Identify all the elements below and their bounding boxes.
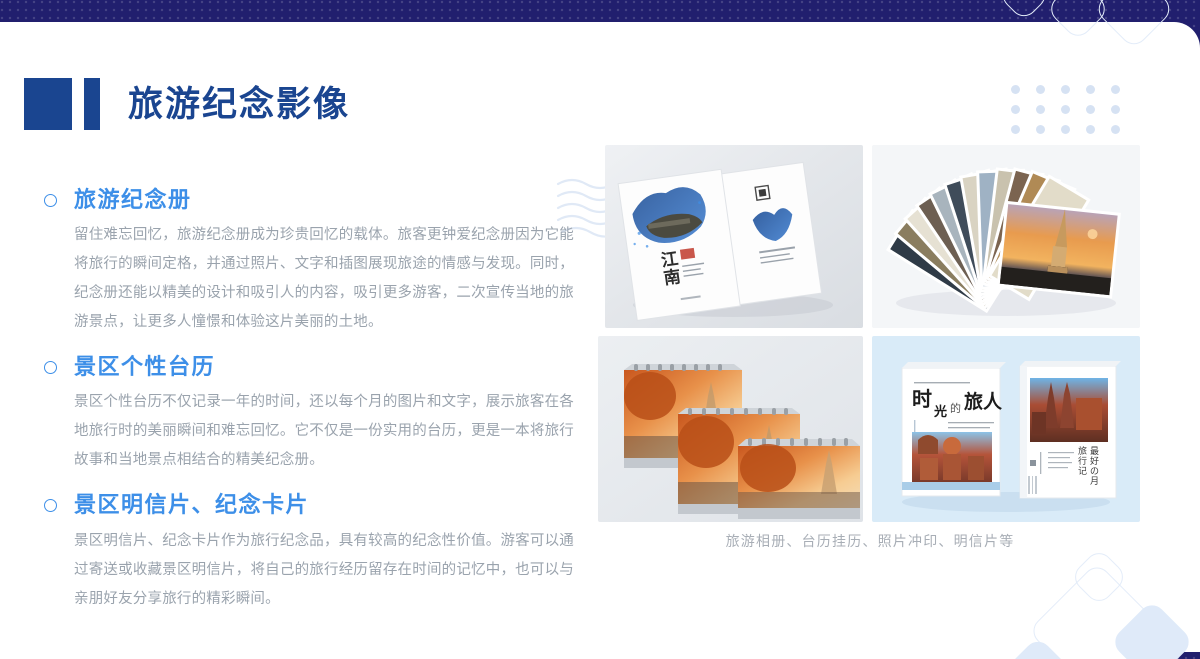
svg-text:の: の [1090, 467, 1099, 477]
section-postcards: 景区明信片、纪念卡片 景区明信片、纪念卡片作为旅行纪念品，具有较高的纪念性价值。… [44, 493, 584, 613]
dot [1011, 105, 1020, 114]
svg-text:好: 好 [1090, 455, 1099, 467]
svg-text:时: 时 [912, 387, 932, 411]
svg-text:光: 光 [933, 404, 947, 420]
dot [1111, 105, 1120, 114]
section-heading-row: 旅游纪念册 [44, 188, 584, 212]
page-title-row: 旅游纪念影像 [24, 78, 350, 130]
gallery-caption: 旅游相册、台历挂历、照片冲印、明信片等 [598, 531, 1142, 551]
svg-text:的: 的 [950, 401, 961, 415]
travel-album-brochure-photo: 江 南 [605, 145, 863, 328]
circle-bullet-icon [44, 499, 57, 512]
dot [1036, 85, 1045, 94]
section-body: 景区个性台历不仅记录一年的时间，还以每个月的图片和文字，展示旅客在各地旅行时的美… [74, 388, 574, 475]
slide-root: 旅游纪念影像 旅游纪念册 留住难忘回忆，旅游纪念册成为珍贵回忆的载体。旅客更钟爱… [0, 0, 1200, 659]
svg-text:月: 月 [1090, 476, 1099, 487]
circle-bullet-icon [44, 194, 57, 207]
page-title: 旅游纪念影像 [128, 87, 350, 122]
section-title: 景区明信片、纪念卡片 [74, 493, 309, 517]
dot [1086, 85, 1095, 94]
section-travel-album: 旅游纪念册 留住难忘回忆，旅游纪念册成为珍贵回忆的载体。旅客更钟爱纪念册因为它能… [44, 188, 584, 337]
desk-calendars-photo [598, 336, 863, 522]
gallery-grid: 江 南 [598, 145, 1142, 522]
dot [1036, 125, 1045, 134]
title-accent-block-large [24, 78, 72, 130]
photo-books-photo: 时 光 的 旅人 [872, 336, 1140, 522]
section-heading-row: 景区个性台历 [44, 355, 584, 379]
dot [1036, 105, 1045, 114]
dot-grid-decoration [1011, 85, 1136, 145]
printed-photos-fan-photo [872, 145, 1140, 328]
dot [1086, 105, 1095, 114]
dot [1086, 125, 1095, 134]
dot [1061, 125, 1070, 134]
svg-text:最: 最 [1090, 446, 1099, 457]
section-heading-row: 景区明信片、纪念卡片 [44, 493, 584, 517]
section-body: 留住难忘回忆，旅游纪念册成为珍贵回忆的载体。旅客更钟爱纪念册因为它能将旅行的瞬间… [74, 221, 574, 337]
dot [1061, 105, 1070, 114]
svg-text:行: 行 [1078, 455, 1087, 467]
dot [1011, 125, 1020, 134]
content-column: 旅游纪念册 留住难忘回忆，旅游纪念册成为珍贵回忆的载体。旅客更钟爱纪念册因为它能… [44, 188, 584, 614]
section-body: 景区明信片、纪念卡片作为旅行纪念品，具有较高的纪念性价值。游客可以通过寄送或收藏… [74, 527, 574, 614]
svg-text:旅: 旅 [1078, 445, 1087, 457]
svg-text:旅人: 旅人 [964, 390, 1003, 413]
section-desk-calendar: 景区个性台历 景区个性台历不仅记录一年的时间，还以每个月的图片和文字，展示旅客在… [44, 355, 584, 475]
dot [1011, 85, 1020, 94]
dot [1061, 85, 1070, 94]
section-title: 景区个性台历 [74, 355, 215, 379]
section-title: 旅游纪念册 [74, 188, 192, 212]
svg-text:记: 记 [1078, 466, 1087, 477]
dot [1111, 85, 1120, 94]
title-accent-block-small [84, 78, 100, 130]
svg-text:南: 南 [662, 266, 682, 289]
circle-bullet-icon [44, 361, 57, 374]
dot [1111, 125, 1120, 134]
